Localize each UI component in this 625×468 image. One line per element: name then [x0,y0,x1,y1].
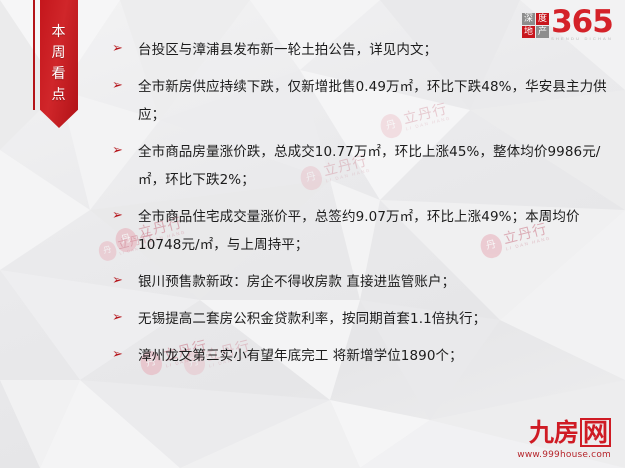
brand-char-di: 地 [522,26,535,38]
ribbon-side-rule [33,0,35,110]
bullet-arrow-icon: ➢ [112,38,128,58]
site-logo-mark: 九房 网 [517,418,611,447]
bullet-arrow-icon: ➢ [112,75,128,95]
list-item-text: 银川预售款新政：房企不得收房款 直接进监管账户； [138,268,612,296]
list-item: ➢ 漳州龙文第三实小有望年底完工 将新增学位1890个； [112,342,612,370]
list-item-text: 全市新房供应持续下跌，仅新增批售0.49万㎡，环比下跌48%，华安县主力供应； [138,73,612,129]
site-logo-text-boxed: 网 [580,418,611,447]
list-item: ➢ 全市商品住宅成交量涨价平，总签约9.07万㎡，环比上涨49%；本周均价107… [112,203,612,259]
bullet-arrow-icon: ➢ [112,270,128,290]
slide-canvas: 本 周 看 点 深 度 地 产 365 SHENDU DICHAN 丹 立丹行L… [0,0,625,468]
list-item: ➢ 全市商品房量涨价跌，总成交10.77万㎡，环比上涨45%，整体均价9986元… [112,138,612,194]
list-item: ➢ 银川预售款新政：房企不得收房款 直接进监管账户； [112,268,612,296]
list-item-text: 无锡提高二套房公积金贷款利率，按同期首套1.1倍执行； [138,305,612,333]
list-item-text: 全市商品住宅成交量涨价平，总签约9.07万㎡，环比上涨49%；本周均价10748… [138,203,612,259]
brand-subtitle: SHENDU DICHAN [551,36,613,41]
ribbon-char-2: 周 [40,43,78,64]
site-url: www.999house.com [517,450,611,460]
ribbon-char-1: 本 [40,22,78,43]
site-logo-text: 九房 [529,420,579,445]
ribbon-char-3: 看 [40,64,78,85]
brand-char-chan: 产 [536,26,549,38]
brand-char-grid: 深 度 地 产 [522,13,549,38]
ribbon-char-4: 点 [40,85,78,106]
list-item: ➢ 全市新房供应持续下跌，仅新增批售0.49万㎡，环比下跌48%，华安县主力供应… [112,73,612,129]
list-item-text: 漳州龙文第三实小有望年底完工 将新增学位1890个； [138,342,612,370]
highlights-list: ➢ 台投区与漳浦县发布新一轮土拍公告，详见内文； ➢ 全市新房供应持续下跌，仅新… [112,36,612,379]
brand-char-du: 度 [536,13,549,25]
bullet-arrow-icon: ➢ [112,205,128,225]
bullet-arrow-icon: ➢ [112,140,128,160]
brand-logo: 深 度 地 产 365 SHENDU DICHAN [522,10,613,41]
site-logo[interactable]: 九房 网 www.999house.com [517,418,611,460]
ribbon-title: 本 周 看 点 [40,22,78,106]
list-item-text: 全市商品房量涨价跌，总成交10.77万㎡，环比上涨45%，整体均价9986元/㎡… [138,138,612,194]
brand-number-block: 365 SHENDU DICHAN [551,10,613,41]
brand-char-shen: 深 [522,13,535,25]
bullet-arrow-icon: ➢ [112,307,128,327]
brand-number: 365 [551,10,613,35]
list-item: ➢ 无锡提高二套房公积金贷款利率，按同期首套1.1倍执行； [112,305,612,333]
bullet-arrow-icon: ➢ [112,344,128,364]
